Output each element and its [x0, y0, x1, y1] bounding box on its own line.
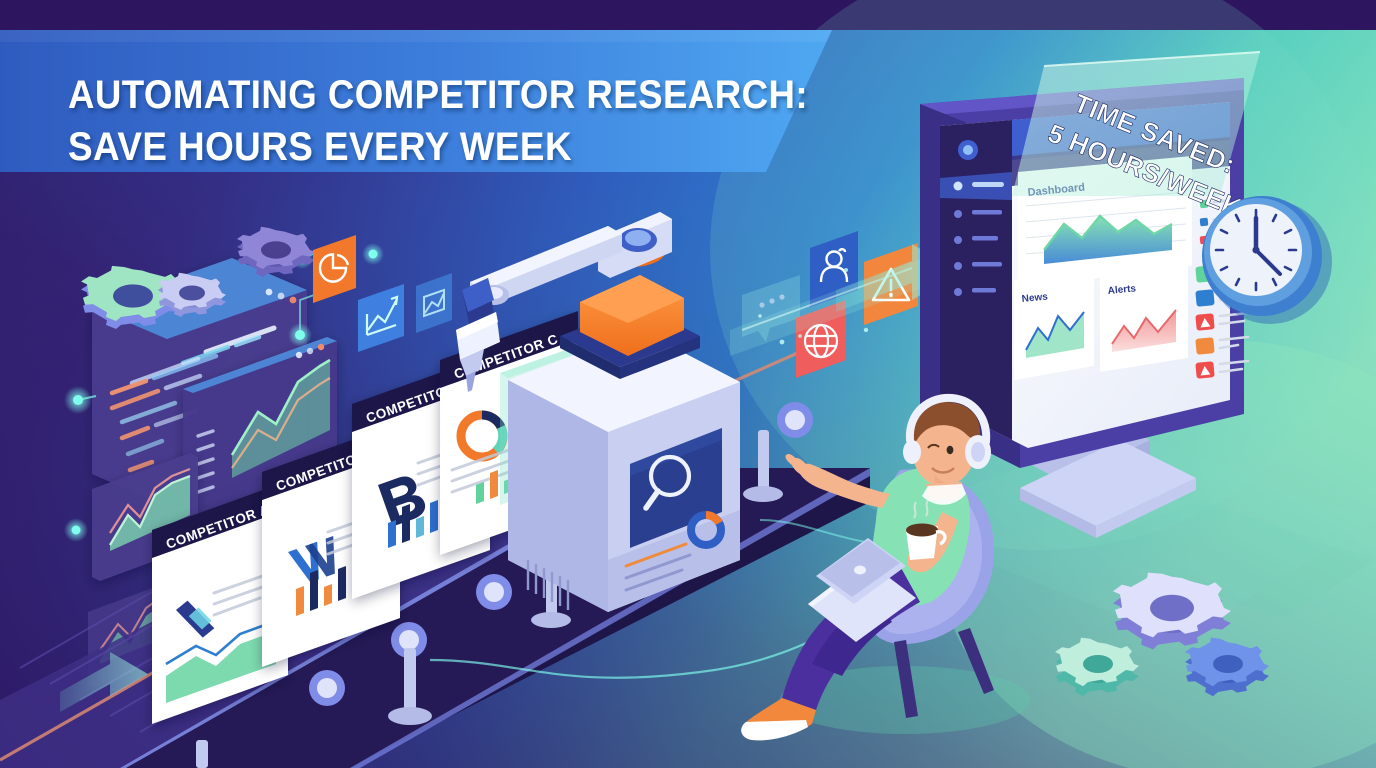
alerts-card: Alerts [1100, 263, 1188, 372]
news-card: News [1014, 272, 1094, 380]
title-line-1: AUTOMATING COMPETITOR RESEARCH: [68, 73, 808, 117]
illustration-canvas: COMPETITOR A COMPETITOR B [0, 0, 1376, 768]
title-banner: AUTOMATING COMPETITOR RESEARCH: SAVE HOU… [0, 30, 832, 172]
title-line-2: SAVE HOURS EVERY WEEK [68, 125, 572, 169]
